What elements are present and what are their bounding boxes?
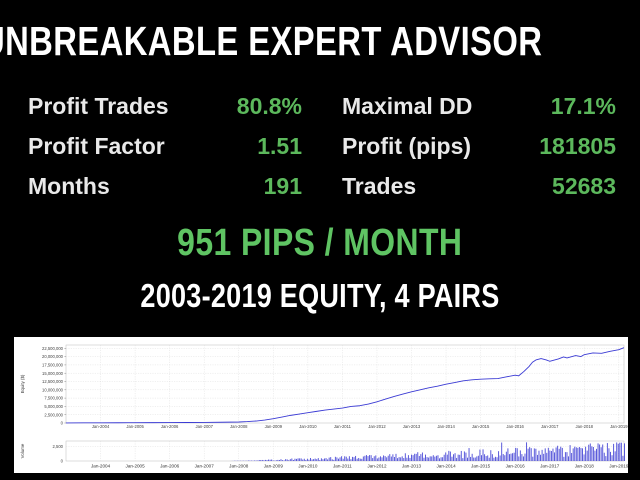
svg-text:Jan-2005: Jan-2005 xyxy=(126,424,144,429)
svg-text:Jan-2006: Jan-2006 xyxy=(160,463,180,468)
stat-label: Profit Factor xyxy=(28,133,165,159)
svg-text:Volume: Volume xyxy=(20,443,25,458)
volume-chart-svg: 02,500Jan-2004Jan-2005Jan-2006Jan-2007Ja… xyxy=(14,437,628,473)
svg-text:Jan-2015: Jan-2015 xyxy=(471,463,491,468)
svg-text:20,000,000: 20,000,000 xyxy=(42,354,64,359)
svg-text:Jan-2008: Jan-2008 xyxy=(230,424,248,429)
svg-text:Jan-2012: Jan-2012 xyxy=(368,424,386,429)
equity-chart-card: 02,500,0005,000,0007,500,00010,000,00012… xyxy=(14,337,628,473)
stat-value: 17.1% xyxy=(551,93,616,119)
stat-label: Trades xyxy=(342,173,416,199)
svg-text:Jan-2016: Jan-2016 xyxy=(506,463,526,468)
equity-chart-svg: 02,500,0005,000,0007,500,00010,000,00012… xyxy=(14,339,628,435)
svg-text:Jan-2007: Jan-2007 xyxy=(195,463,215,468)
svg-text:Jan-2017: Jan-2017 xyxy=(541,424,559,429)
svg-text:Jan-2004: Jan-2004 xyxy=(91,463,111,468)
subheadline-text: 2003-2019 EQUITY, 4 PAIRS xyxy=(140,278,499,314)
svg-text:0: 0 xyxy=(61,421,64,426)
promo-banner: UNBREAKABLE EXPERT ADVISOR Profit Trades… xyxy=(0,0,640,480)
stats-grid: Profit Trades 80.8% Maximal DD 17.1% Pro… xyxy=(0,86,640,206)
svg-text:2,500,000: 2,500,000 xyxy=(44,412,63,417)
headline: 951 PIPS / MONTH xyxy=(0,222,640,264)
svg-text:12,500,000: 12,500,000 xyxy=(42,379,64,384)
svg-text:Jan-2019: Jan-2019 xyxy=(609,463,628,468)
svg-text:10,000,000: 10,000,000 xyxy=(42,387,64,392)
stat-trades: Trades 52683 xyxy=(320,166,640,206)
svg-text:Jan-2012: Jan-2012 xyxy=(367,463,387,468)
svg-text:17,500,000: 17,500,000 xyxy=(42,363,64,368)
svg-text:Jan-2018: Jan-2018 xyxy=(576,424,594,429)
svg-text:Jan-2006: Jan-2006 xyxy=(161,424,179,429)
stat-months: Months 191 xyxy=(0,166,320,206)
svg-text:22,500,000: 22,500,000 xyxy=(42,346,64,351)
svg-text:Jan-2008: Jan-2008 xyxy=(229,463,249,468)
subheadline: 2003-2019 EQUITY, 4 PAIRS xyxy=(0,278,640,314)
svg-text:Jan-2009: Jan-2009 xyxy=(265,424,283,429)
svg-text:Jan-2013: Jan-2013 xyxy=(403,424,421,429)
svg-text:7,500,000: 7,500,000 xyxy=(44,396,63,401)
stat-label: Profit Trades xyxy=(28,93,169,119)
svg-text:Jan-2013: Jan-2013 xyxy=(402,463,422,468)
svg-text:Jan-2011: Jan-2011 xyxy=(334,424,352,429)
stat-value: 1.51 xyxy=(257,133,302,159)
svg-text:Equity ($): Equity ($) xyxy=(20,374,25,393)
stat-maximal-dd: Maximal DD 17.1% xyxy=(320,86,640,126)
svg-text:Jan-2009: Jan-2009 xyxy=(264,463,284,468)
banner-title-row: UNBREAKABLE EXPERT ADVISOR xyxy=(0,12,640,70)
svg-text:Jan-2011: Jan-2011 xyxy=(333,463,352,468)
svg-text:Jan-2017: Jan-2017 xyxy=(540,463,560,468)
stat-value: 80.8% xyxy=(237,93,302,119)
stat-value: 52683 xyxy=(552,173,616,199)
svg-text:Jan-2004: Jan-2004 xyxy=(92,424,110,429)
svg-text:0: 0 xyxy=(61,459,64,464)
stat-profit-factor: Profit Factor 1.51 xyxy=(0,126,320,166)
svg-text:2,500: 2,500 xyxy=(53,444,64,449)
equity-curve-panel: 02,500,0005,000,0007,500,00010,000,00012… xyxy=(14,339,628,435)
svg-text:Jan-2014: Jan-2014 xyxy=(436,463,456,468)
stat-label: Months xyxy=(28,173,110,199)
headline-text: 951 PIPS / MONTH xyxy=(177,222,462,264)
stat-label: Profit (pips) xyxy=(342,133,471,159)
stat-profit-pips: Profit (pips) 181805 xyxy=(320,126,640,166)
stat-value: 191 xyxy=(264,173,302,199)
stat-label: Maximal DD xyxy=(342,93,472,119)
svg-text:Jan-2007: Jan-2007 xyxy=(195,424,213,429)
svg-text:5,000,000: 5,000,000 xyxy=(44,404,63,409)
svg-text:Jan-2016: Jan-2016 xyxy=(506,424,524,429)
svg-text:Jan-2018: Jan-2018 xyxy=(575,463,595,468)
svg-text:Jan-2014: Jan-2014 xyxy=(437,424,455,429)
stat-value: 181805 xyxy=(539,133,616,159)
svg-text:Jan-2010: Jan-2010 xyxy=(299,424,317,429)
volume-panel: 02,500Jan-2004Jan-2005Jan-2006Jan-2007Ja… xyxy=(14,437,628,473)
svg-text:Jan-2010: Jan-2010 xyxy=(298,463,318,468)
stat-profit-trades: Profit Trades 80.8% xyxy=(0,86,320,126)
svg-text:Jan-2015: Jan-2015 xyxy=(472,424,490,429)
svg-text:Jan-2019: Jan-2019 xyxy=(610,424,628,429)
svg-text:Jan-2005: Jan-2005 xyxy=(126,463,146,468)
page-title: UNBREAKABLE EXPERT ADVISOR xyxy=(0,18,543,64)
svg-text:15,000,000: 15,000,000 xyxy=(42,371,64,376)
